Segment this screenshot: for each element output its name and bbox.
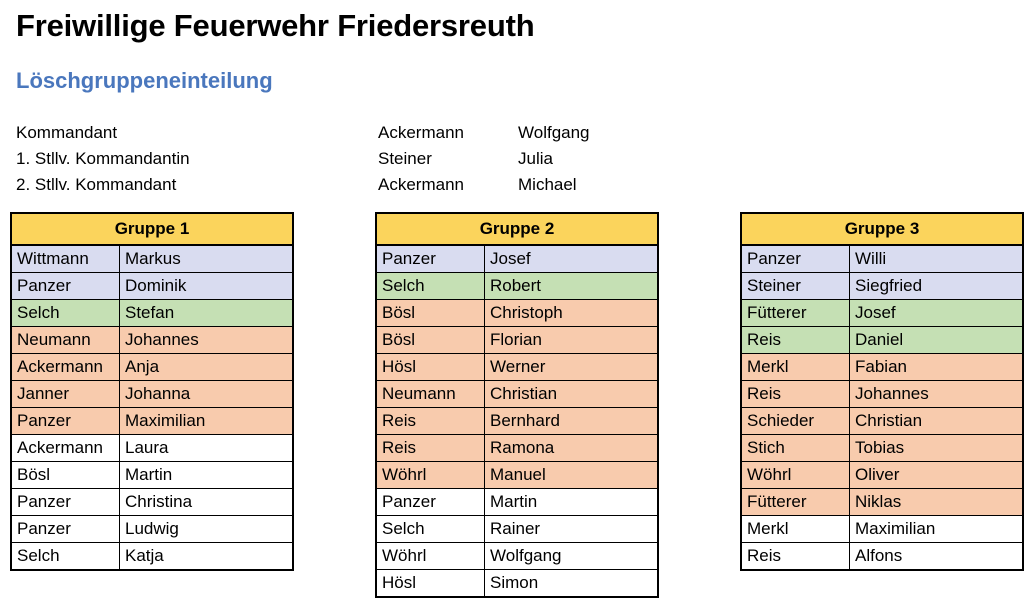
table-row: ReisRamona <box>377 434 657 461</box>
table-row: SelchStefan <box>12 299 292 326</box>
member-last-name: Hösl <box>377 354 485 380</box>
table-row: PanzerChristina <box>12 488 292 515</box>
member-first-name: Fabian <box>850 354 1022 380</box>
leadership-last-name: Steiner <box>378 146 432 172</box>
member-first-name: Simon <box>485 570 657 596</box>
leadership-role: 2. Stllv. Kommandant <box>16 172 176 198</box>
member-first-name: Johanna <box>120 381 292 407</box>
member-first-name: Anja <box>120 354 292 380</box>
member-first-name: Oliver <box>850 462 1022 488</box>
member-first-name: Ramona <box>485 435 657 461</box>
member-first-name: Tobias <box>850 435 1022 461</box>
table-row: PanzerDominik <box>12 272 292 299</box>
page-subtitle: Löschgruppeneinteilung <box>16 68 273 94</box>
member-last-name: Bösl <box>377 327 485 353</box>
member-first-name: Manuel <box>485 462 657 488</box>
table-row: WöhrlOliver <box>742 461 1022 488</box>
member-first-name: Dominik <box>120 273 292 299</box>
group-title: Gruppe 1 <box>12 214 292 246</box>
member-last-name: Selch <box>377 273 485 299</box>
table-row: MerklMaximilian <box>742 515 1022 542</box>
table-row: FüttererJosef <box>742 299 1022 326</box>
member-first-name: Ludwig <box>120 516 292 542</box>
group-member-list: PanzerJosefSelchRobertBöslChristophBöslF… <box>377 246 657 596</box>
group-table-1: Gruppe 1 WittmannMarkusPanzerDominikSelc… <box>10 212 294 571</box>
member-last-name: Reis <box>742 327 850 353</box>
table-row: NeumannJohannes <box>12 326 292 353</box>
table-row: PanzerJosef <box>377 246 657 272</box>
member-first-name: Katja <box>120 543 292 569</box>
member-last-name: Hösl <box>377 570 485 596</box>
table-row: FüttererNiklas <box>742 488 1022 515</box>
table-row: ReisDaniel <box>742 326 1022 353</box>
table-row: PanzerMartin <box>377 488 657 515</box>
member-first-name: Maximilian <box>120 408 292 434</box>
member-last-name: Reis <box>742 543 850 569</box>
member-first-name: Niklas <box>850 489 1022 515</box>
member-last-name: Schieder <box>742 408 850 434</box>
member-first-name: Johannes <box>850 381 1022 407</box>
table-row: WittmannMarkus <box>12 246 292 272</box>
table-row: NeumannChristian <box>377 380 657 407</box>
member-last-name: Panzer <box>12 408 120 434</box>
member-first-name: Maximilian <box>850 516 1022 542</box>
table-row: SelchRainer <box>377 515 657 542</box>
table-row: BöslChristoph <box>377 299 657 326</box>
member-last-name: Wöhrl <box>377 543 485 569</box>
member-first-name: Siegfried <box>850 273 1022 299</box>
table-row: MerklFabian <box>742 353 1022 380</box>
member-first-name: Alfons <box>850 543 1022 569</box>
member-first-name: Bernhard <box>485 408 657 434</box>
member-last-name: Neumann <box>377 381 485 407</box>
table-row: PanzerLudwig <box>12 515 292 542</box>
member-first-name: Christian <box>485 381 657 407</box>
member-last-name: Reis <box>742 381 850 407</box>
member-last-name: Panzer <box>12 516 120 542</box>
member-last-name: Panzer <box>377 246 485 272</box>
leadership-role: 1. Stllv. Kommandantin <box>16 146 190 172</box>
member-first-name: Robert <box>485 273 657 299</box>
table-row: ReisBernhard <box>377 407 657 434</box>
member-last-name: Merkl <box>742 516 850 542</box>
table-row: BöslFlorian <box>377 326 657 353</box>
table-row: SelchRobert <box>377 272 657 299</box>
member-last-name: Selch <box>12 300 120 326</box>
member-first-name: Johannes <box>120 327 292 353</box>
member-last-name: Ackermann <box>12 354 120 380</box>
leadership-list: Kommandant Ackermann Wolfgang 1. Stllv. … <box>16 120 716 198</box>
member-last-name: Janner <box>12 381 120 407</box>
table-row: AckermannAnja <box>12 353 292 380</box>
member-last-name: Wöhrl <box>742 462 850 488</box>
table-row: ReisAlfons <box>742 542 1022 569</box>
member-first-name: Markus <box>120 246 292 272</box>
table-row: ReisJohannes <box>742 380 1022 407</box>
leadership-first-name: Michael <box>518 172 577 198</box>
table-row: HöslSimon <box>377 569 657 596</box>
member-first-name: Laura <box>120 435 292 461</box>
table-row: SteinerSiegfried <box>742 272 1022 299</box>
page-title: Freiwillige Feuerwehr Friedersreuth <box>16 8 534 44</box>
member-first-name: Josef <box>850 300 1022 326</box>
group-member-list: WittmannMarkusPanzerDominikSelchStefanNe… <box>12 246 292 569</box>
leadership-last-name: Ackermann <box>378 120 464 146</box>
leadership-row: 1. Stllv. Kommandantin Steiner Julia <box>16 146 716 172</box>
member-last-name: Bösl <box>377 300 485 326</box>
member-last-name: Reis <box>377 435 485 461</box>
member-first-name: Willi <box>850 246 1022 272</box>
member-last-name: Fütterer <box>742 489 850 515</box>
group-title: Gruppe 3 <box>742 214 1022 246</box>
member-first-name: Josef <box>485 246 657 272</box>
member-last-name: Stich <box>742 435 850 461</box>
member-last-name: Merkl <box>742 354 850 380</box>
member-last-name: Reis <box>377 408 485 434</box>
member-first-name: Daniel <box>850 327 1022 353</box>
group-table-3: Gruppe 3 PanzerWilliSteinerSiegfriedFütt… <box>740 212 1024 571</box>
leadership-first-name: Wolfgang <box>518 120 590 146</box>
member-last-name: Neumann <box>12 327 120 353</box>
member-first-name: Martin <box>485 489 657 515</box>
member-last-name: Selch <box>12 543 120 569</box>
member-last-name: Bösl <box>12 462 120 488</box>
leadership-first-name: Julia <box>518 146 553 172</box>
member-last-name: Wöhrl <box>377 462 485 488</box>
table-row: PanzerMaximilian <box>12 407 292 434</box>
member-last-name: Steiner <box>742 273 850 299</box>
table-row: BöslMartin <box>12 461 292 488</box>
group-title: Gruppe 2 <box>377 214 657 246</box>
group-member-list: PanzerWilliSteinerSiegfriedFüttererJosef… <box>742 246 1022 569</box>
member-last-name: Fütterer <box>742 300 850 326</box>
member-last-name: Panzer <box>12 273 120 299</box>
table-row: WöhrlWolfgang <box>377 542 657 569</box>
table-row: SelchKatja <box>12 542 292 569</box>
member-first-name: Wolfgang <box>485 543 657 569</box>
member-last-name: Ackermann <box>12 435 120 461</box>
member-first-name: Christian <box>850 408 1022 434</box>
member-last-name: Wittmann <box>12 246 120 272</box>
table-row: WöhrlManuel <box>377 461 657 488</box>
leadership-row: Kommandant Ackermann Wolfgang <box>16 120 716 146</box>
member-first-name: Werner <box>485 354 657 380</box>
member-first-name: Christina <box>120 489 292 515</box>
member-last-name: Panzer <box>377 489 485 515</box>
member-first-name: Rainer <box>485 516 657 542</box>
table-row: SchiederChristian <box>742 407 1022 434</box>
member-last-name: Selch <box>377 516 485 542</box>
leadership-row: 2. Stllv. Kommandant Ackermann Michael <box>16 172 716 198</box>
group-table-2: Gruppe 2 PanzerJosefSelchRobertBöslChris… <box>375 212 659 598</box>
table-row: StichTobias <box>742 434 1022 461</box>
table-row: HöslWerner <box>377 353 657 380</box>
member-first-name: Christoph <box>485 300 657 326</box>
member-first-name: Florian <box>485 327 657 353</box>
table-row: AckermannLaura <box>12 434 292 461</box>
member-last-name: Panzer <box>12 489 120 515</box>
table-row: JannerJohanna <box>12 380 292 407</box>
member-first-name: Stefan <box>120 300 292 326</box>
member-first-name: Martin <box>120 462 292 488</box>
leadership-role: Kommandant <box>16 120 117 146</box>
leadership-last-name: Ackermann <box>378 172 464 198</box>
table-row: PanzerWilli <box>742 246 1022 272</box>
member-last-name: Panzer <box>742 246 850 272</box>
